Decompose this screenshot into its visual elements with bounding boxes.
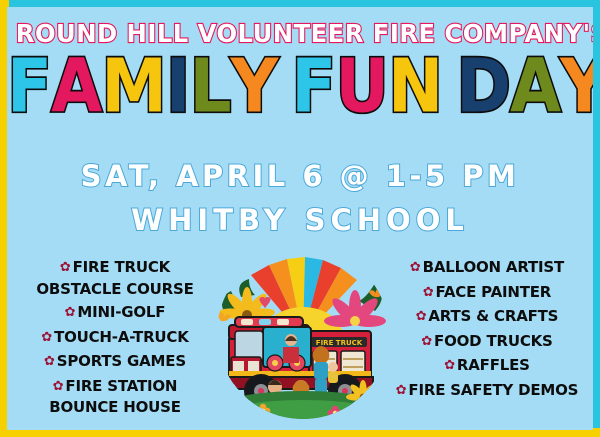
flower-bullet-icon: ✿ xyxy=(60,260,71,275)
flower-bullet-icon: ✿ xyxy=(410,260,421,275)
title-letter: N xyxy=(388,50,442,124)
list-item: ✿FIRE TRUCK OBSTACLE COURSE xyxy=(17,257,213,299)
fire-truck-illustration: FIRE TRUCK xyxy=(203,245,403,420)
title-letter: L xyxy=(189,50,230,124)
poster-content-area: ROUND HILL VOLUNTEER FIRE COMPANY'S FAMI… xyxy=(7,7,593,430)
list-item-label: TOUCH-A-TRUCK xyxy=(54,328,189,346)
title-letter: M xyxy=(101,50,166,124)
flower-bullet-icon: ✿ xyxy=(444,358,455,373)
title-letter: F xyxy=(7,50,51,124)
list-item: ✿ARTS & CRAFTS xyxy=(389,306,585,328)
list-item: ✿SPORTS GAMES xyxy=(17,351,213,373)
page-title: FAMILY FUN DAY xyxy=(7,54,593,120)
flower-bullet-icon: ✿ xyxy=(53,379,64,394)
list-item: ✿TOUCH-A-TRUCK xyxy=(17,327,213,349)
activities-list-left: ✿FIRE TRUCK OBSTACLE COURSE✿MINI-GOLF✿TO… xyxy=(17,257,213,421)
list-item-label: BALLOON ARTIST xyxy=(423,258,564,276)
title-letter: I xyxy=(166,50,190,124)
list-item-label: FOOD TRUCKS xyxy=(434,332,553,350)
list-item-label: MINI-GOLF xyxy=(77,303,165,321)
list-item-label: RAFFLES xyxy=(457,356,530,374)
flower-bullet-icon: ✿ xyxy=(423,285,434,300)
flower-bullet-icon: ✿ xyxy=(421,334,432,349)
list-item-label: ARTS & CRAFTS xyxy=(428,307,558,325)
list-item: ✿FACE PAINTER xyxy=(389,282,585,304)
flower-bullet-icon: ✿ xyxy=(65,305,76,320)
flyer-poster: ROUND HILL VOLUNTEER FIRE COMPANY'S FAMI… xyxy=(0,0,600,437)
title-letter: Y xyxy=(231,50,278,124)
title-letter: Y xyxy=(560,50,593,124)
list-item-label: FIRE STATION BOUNCE HOUSE xyxy=(49,377,181,417)
list-item: ✿RAFFLES xyxy=(389,355,585,377)
flower-bullet-icon: ✿ xyxy=(41,330,52,345)
list-item: ✿MINI-GOLF xyxy=(17,302,213,324)
list-item-label: FACE PAINTER xyxy=(436,283,552,301)
title-letter: D xyxy=(456,50,510,124)
flower-bullet-icon: ✿ xyxy=(44,354,55,369)
list-item: ✿FIRE STATION BOUNCE HOUSE xyxy=(17,376,213,418)
list-item: ✿BALLOON ARTIST xyxy=(389,257,585,279)
title-letter: F xyxy=(291,50,335,124)
list-item-label: FIRE SAFETY DEMOS xyxy=(408,381,578,399)
title-space xyxy=(442,50,456,124)
activities-list-right: ✿BALLOON ARTIST✿FACE PAINTER✿ARTS & CRAF… xyxy=(389,257,585,404)
event-date-line: SAT, APRIL 6 @ 1-5 PM xyxy=(7,159,593,193)
title-letter: A xyxy=(51,50,101,124)
list-item: ✿FOOD TRUCKS xyxy=(389,331,585,353)
list-item: ✿FIRE SAFETY DEMOS xyxy=(389,380,585,402)
title-space xyxy=(277,50,291,124)
event-venue-line: WHITBY SCHOOL xyxy=(7,203,593,237)
svg-text:FIRE TRUCK: FIRE TRUCK xyxy=(316,339,363,347)
flower-bullet-icon: ✿ xyxy=(416,309,427,324)
title-letter: A xyxy=(510,50,560,124)
title-letter: U xyxy=(335,50,388,124)
list-item-label: SPORTS GAMES xyxy=(57,352,186,370)
